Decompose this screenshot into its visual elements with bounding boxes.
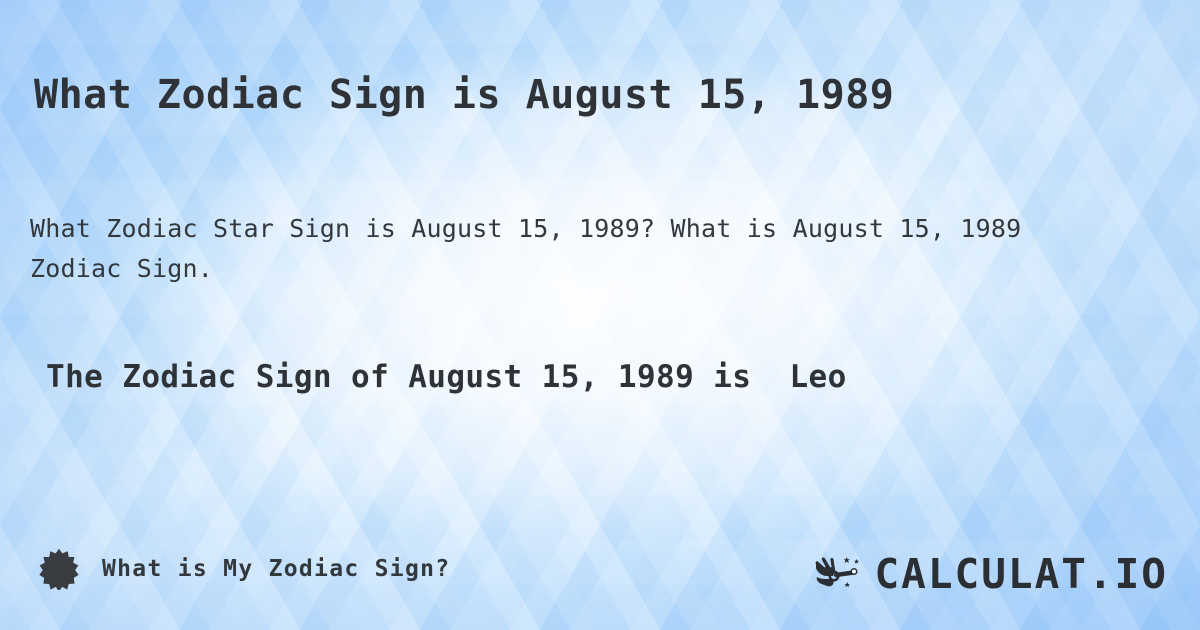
brand-logo[interactable]: CALCULAT.IO <box>812 552 1168 596</box>
brand-name: CALCULAT.IO <box>874 552 1168 596</box>
what-is-my-zodiac-sign-link[interactable]: What is My Zodiac Sign? <box>38 548 450 590</box>
page-description: What Zodiac Star Sign is August 15, 1989… <box>30 209 1105 289</box>
page-title: What Zodiac Sign is August 15, 1989 <box>34 71 1174 119</box>
starburst-icon <box>38 548 80 590</box>
zodiac-sign-card: What Zodiac Sign is August 15, 1989 What… <box>0 0 1200 630</box>
card-footer: What is My Zodiac Sign? <box>0 540 1200 620</box>
card-content: What Zodiac Sign is August 15, 1989 What… <box>0 0 1200 630</box>
brand-name-text: CALCULAT.IO <box>874 552 1168 596</box>
footer-link-label: What is My Zodiac Sign? <box>102 556 450 582</box>
hand-magic-wand-icon <box>812 554 868 594</box>
zodiac-answer: The Zodiac Sign of August 15, 1989 is Le… <box>46 356 1176 398</box>
